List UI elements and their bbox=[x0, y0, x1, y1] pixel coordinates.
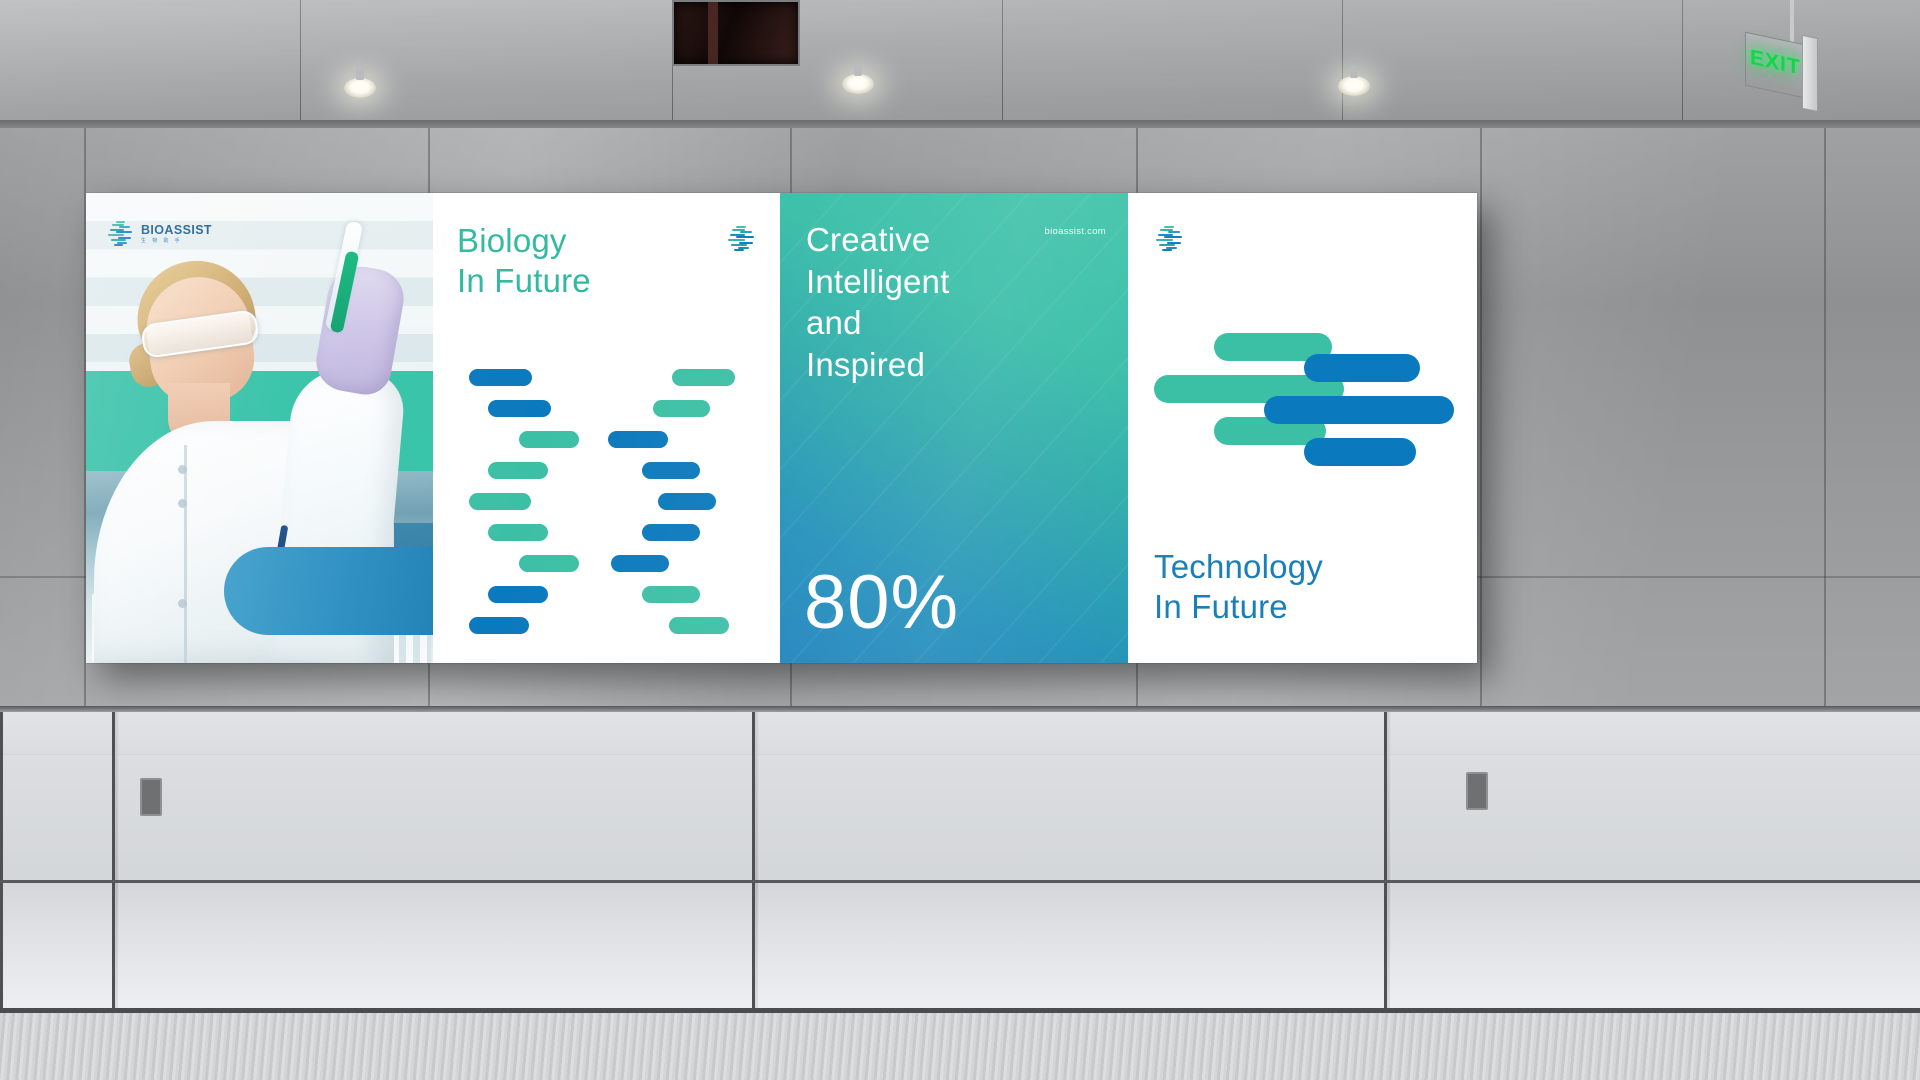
logo-bar bbox=[111, 239, 126, 241]
logo-bar bbox=[116, 221, 125, 223]
bioassist-bars-icon bbox=[1156, 226, 1184, 252]
floor bbox=[0, 1013, 1920, 1080]
railing-mid-bar bbox=[0, 880, 1920, 883]
logo-bar bbox=[1162, 249, 1172, 251]
gel-band bbox=[642, 524, 700, 541]
logo-bar bbox=[1156, 239, 1173, 241]
ceiling-tile bbox=[300, 0, 673, 128]
heading-line-2: In Future bbox=[457, 261, 591, 301]
gel-band bbox=[519, 555, 579, 572]
gel-band bbox=[469, 617, 529, 634]
billboard[interactable]: BIOASSIST 生 物 助 手 Biology In Future Crea… bbox=[86, 193, 1477, 663]
bioassist-logo[interactable]: BIOASSIST 生 物 助 手 bbox=[108, 221, 212, 247]
ceiling bbox=[0, 0, 1920, 128]
panel-biology-heading: Biology In Future bbox=[457, 221, 591, 302]
gel-band bbox=[488, 462, 548, 479]
gel-band bbox=[653, 400, 710, 417]
exit-sign-label: EXIT bbox=[1750, 46, 1801, 81]
ceiling-spotlight bbox=[1338, 76, 1370, 96]
panel-biology[interactable]: Biology In Future bbox=[433, 193, 780, 663]
technology-bars-chart bbox=[1128, 333, 1477, 473]
stat-percentage: 80% bbox=[804, 565, 959, 641]
logo-bar bbox=[736, 226, 746, 228]
gel-band bbox=[488, 586, 548, 603]
exit-sign-housing bbox=[1802, 35, 1818, 112]
gel-band bbox=[519, 431, 579, 448]
bioassist-wordmark: BIOASSIST 生 物 助 手 bbox=[141, 224, 212, 244]
wall-outlet bbox=[1466, 772, 1488, 810]
wall-seam bbox=[1824, 128, 1826, 708]
logo-bar bbox=[1168, 231, 1180, 233]
gel-band bbox=[611, 555, 669, 572]
railing-glass-panel bbox=[0, 712, 118, 1012]
technology-bar bbox=[1304, 354, 1420, 382]
gel-band bbox=[642, 462, 700, 479]
gel-band bbox=[669, 617, 729, 634]
ceiling-vent bbox=[672, 0, 800, 66]
technology-bar bbox=[1264, 396, 1454, 424]
technology-bar bbox=[1304, 438, 1416, 466]
billboard-mockup-scene: EXIT bbox=[0, 0, 1920, 1080]
lab-coat-button bbox=[178, 599, 187, 608]
heading-line-3: and bbox=[806, 302, 949, 344]
lab-coat-button bbox=[178, 499, 187, 508]
ceiling-tile bbox=[0, 0, 301, 128]
heading-line-4: Inspired bbox=[806, 344, 949, 386]
logo-bar bbox=[740, 231, 752, 233]
gel-band bbox=[672, 369, 735, 386]
railing-glass-panel bbox=[752, 712, 1390, 1012]
logo-brand-name: BIOASSIST bbox=[141, 224, 212, 237]
lab-coat-placket bbox=[184, 445, 187, 663]
heading-line-1: Biology bbox=[457, 221, 591, 261]
wall-outlet bbox=[140, 778, 162, 816]
logo-bar bbox=[731, 244, 747, 246]
bioassist-bars-icon bbox=[108, 221, 134, 247]
logo-bar bbox=[119, 226, 130, 228]
wall-seam bbox=[1480, 128, 1482, 708]
gel-band bbox=[658, 493, 716, 510]
panel-photo[interactable]: BIOASSIST 生 物 助 手 bbox=[86, 193, 433, 663]
logo-bar bbox=[1159, 244, 1175, 246]
railing-glass-panel bbox=[112, 712, 758, 1012]
logo-bar bbox=[728, 239, 745, 241]
ceiling-spotlight bbox=[842, 74, 874, 94]
heading-line-1: Creative bbox=[806, 219, 949, 261]
logo-brand-subtitle: 生 物 助 手 bbox=[141, 239, 212, 244]
lab-coat-button bbox=[178, 465, 187, 474]
logo-bar bbox=[114, 244, 123, 246]
panel-creative[interactable]: Creative Intelligent and Inspired bioass… bbox=[780, 193, 1128, 663]
logo-bar bbox=[734, 249, 744, 251]
bioassist-bars-icon bbox=[728, 226, 756, 252]
logo-bar bbox=[108, 234, 124, 236]
ceiling-tile bbox=[1002, 0, 1343, 128]
gel-band bbox=[608, 431, 668, 448]
gel-band bbox=[642, 586, 700, 603]
panel-creative-heading: Creative Intelligent and Inspired bbox=[806, 219, 949, 385]
ceiling-tile bbox=[1342, 0, 1683, 128]
gel-band bbox=[488, 400, 551, 417]
dna-gel-chart bbox=[433, 365, 780, 651]
railing-glass-panel bbox=[1384, 712, 1920, 1012]
ceiling-spotlight bbox=[344, 78, 376, 98]
gel-band bbox=[469, 493, 531, 510]
logo-bar bbox=[1164, 226, 1174, 228]
gel-band bbox=[488, 524, 548, 541]
heading-line-2: Intelligent bbox=[806, 261, 949, 303]
gel-band bbox=[469, 369, 532, 386]
panel-technology-heading: Technology In Future bbox=[1154, 547, 1323, 628]
website-url[interactable]: bioassist.com bbox=[1045, 226, 1106, 237]
panel-technology[interactable]: Technology In Future bbox=[1128, 193, 1477, 663]
heading-line-2: In Future bbox=[1154, 587, 1323, 627]
exit-sign-rod bbox=[1790, 0, 1794, 44]
heading-line-1: Technology bbox=[1154, 547, 1323, 587]
blue-pill-shape-accent bbox=[224, 547, 433, 635]
